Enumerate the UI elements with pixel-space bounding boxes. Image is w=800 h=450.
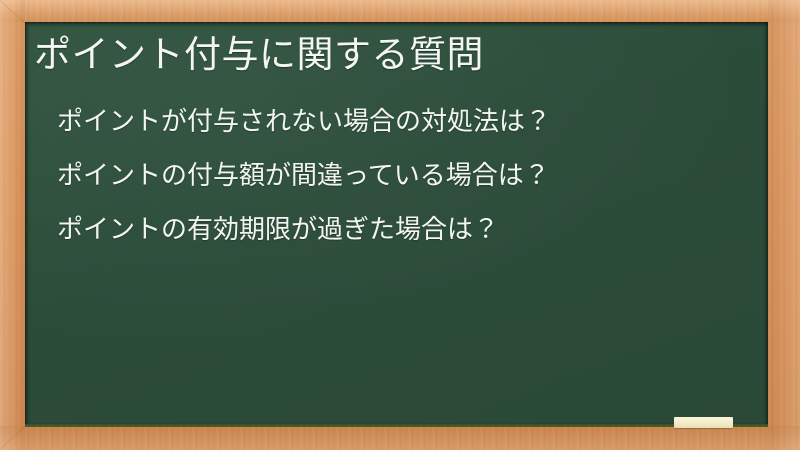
question-item: ポイントが付与されない場合の対処法は？ — [57, 108, 551, 134]
frame-top-highlight — [0, 0, 800, 22]
chalkboard-bottom-edge — [25, 424, 768, 427]
chalk-stick-icon — [674, 417, 733, 428]
frame-miter-seam-bottom-left — [0, 425, 26, 450]
chalkboard-content: ポイント付与に関する質問 ポイントが付与されない場合の対処法は？ ポイントの付与… — [25, 22, 768, 427]
question-item: ポイントの付与額が間違っている場合は？ — [57, 162, 551, 188]
question-item: ポイントの有効期限が過ぎた場合は？ — [57, 216, 551, 242]
frame-right-shadow — [768, 0, 800, 450]
question-list: ポイントが付与されない場合の対処法は？ ポイントの付与額が間違っている場合は？ … — [57, 108, 551, 242]
slide-title: ポイント付与に関する質問 — [34, 32, 484, 77]
chalkboard-surface: ポイント付与に関する質問 ポイントが付与されない場合の対処法は？ ポイントの付与… — [25, 22, 768, 427]
blackboard-slide: ポイント付与に関する質問 ポイントが付与されない場合の対処法は？ ポイントの付与… — [0, 0, 800, 450]
frame-left-highlight — [0, 0, 25, 450]
frame-miter-seam-top-left — [0, 0, 25, 23]
frame-bottom-shadow — [0, 426, 800, 450]
